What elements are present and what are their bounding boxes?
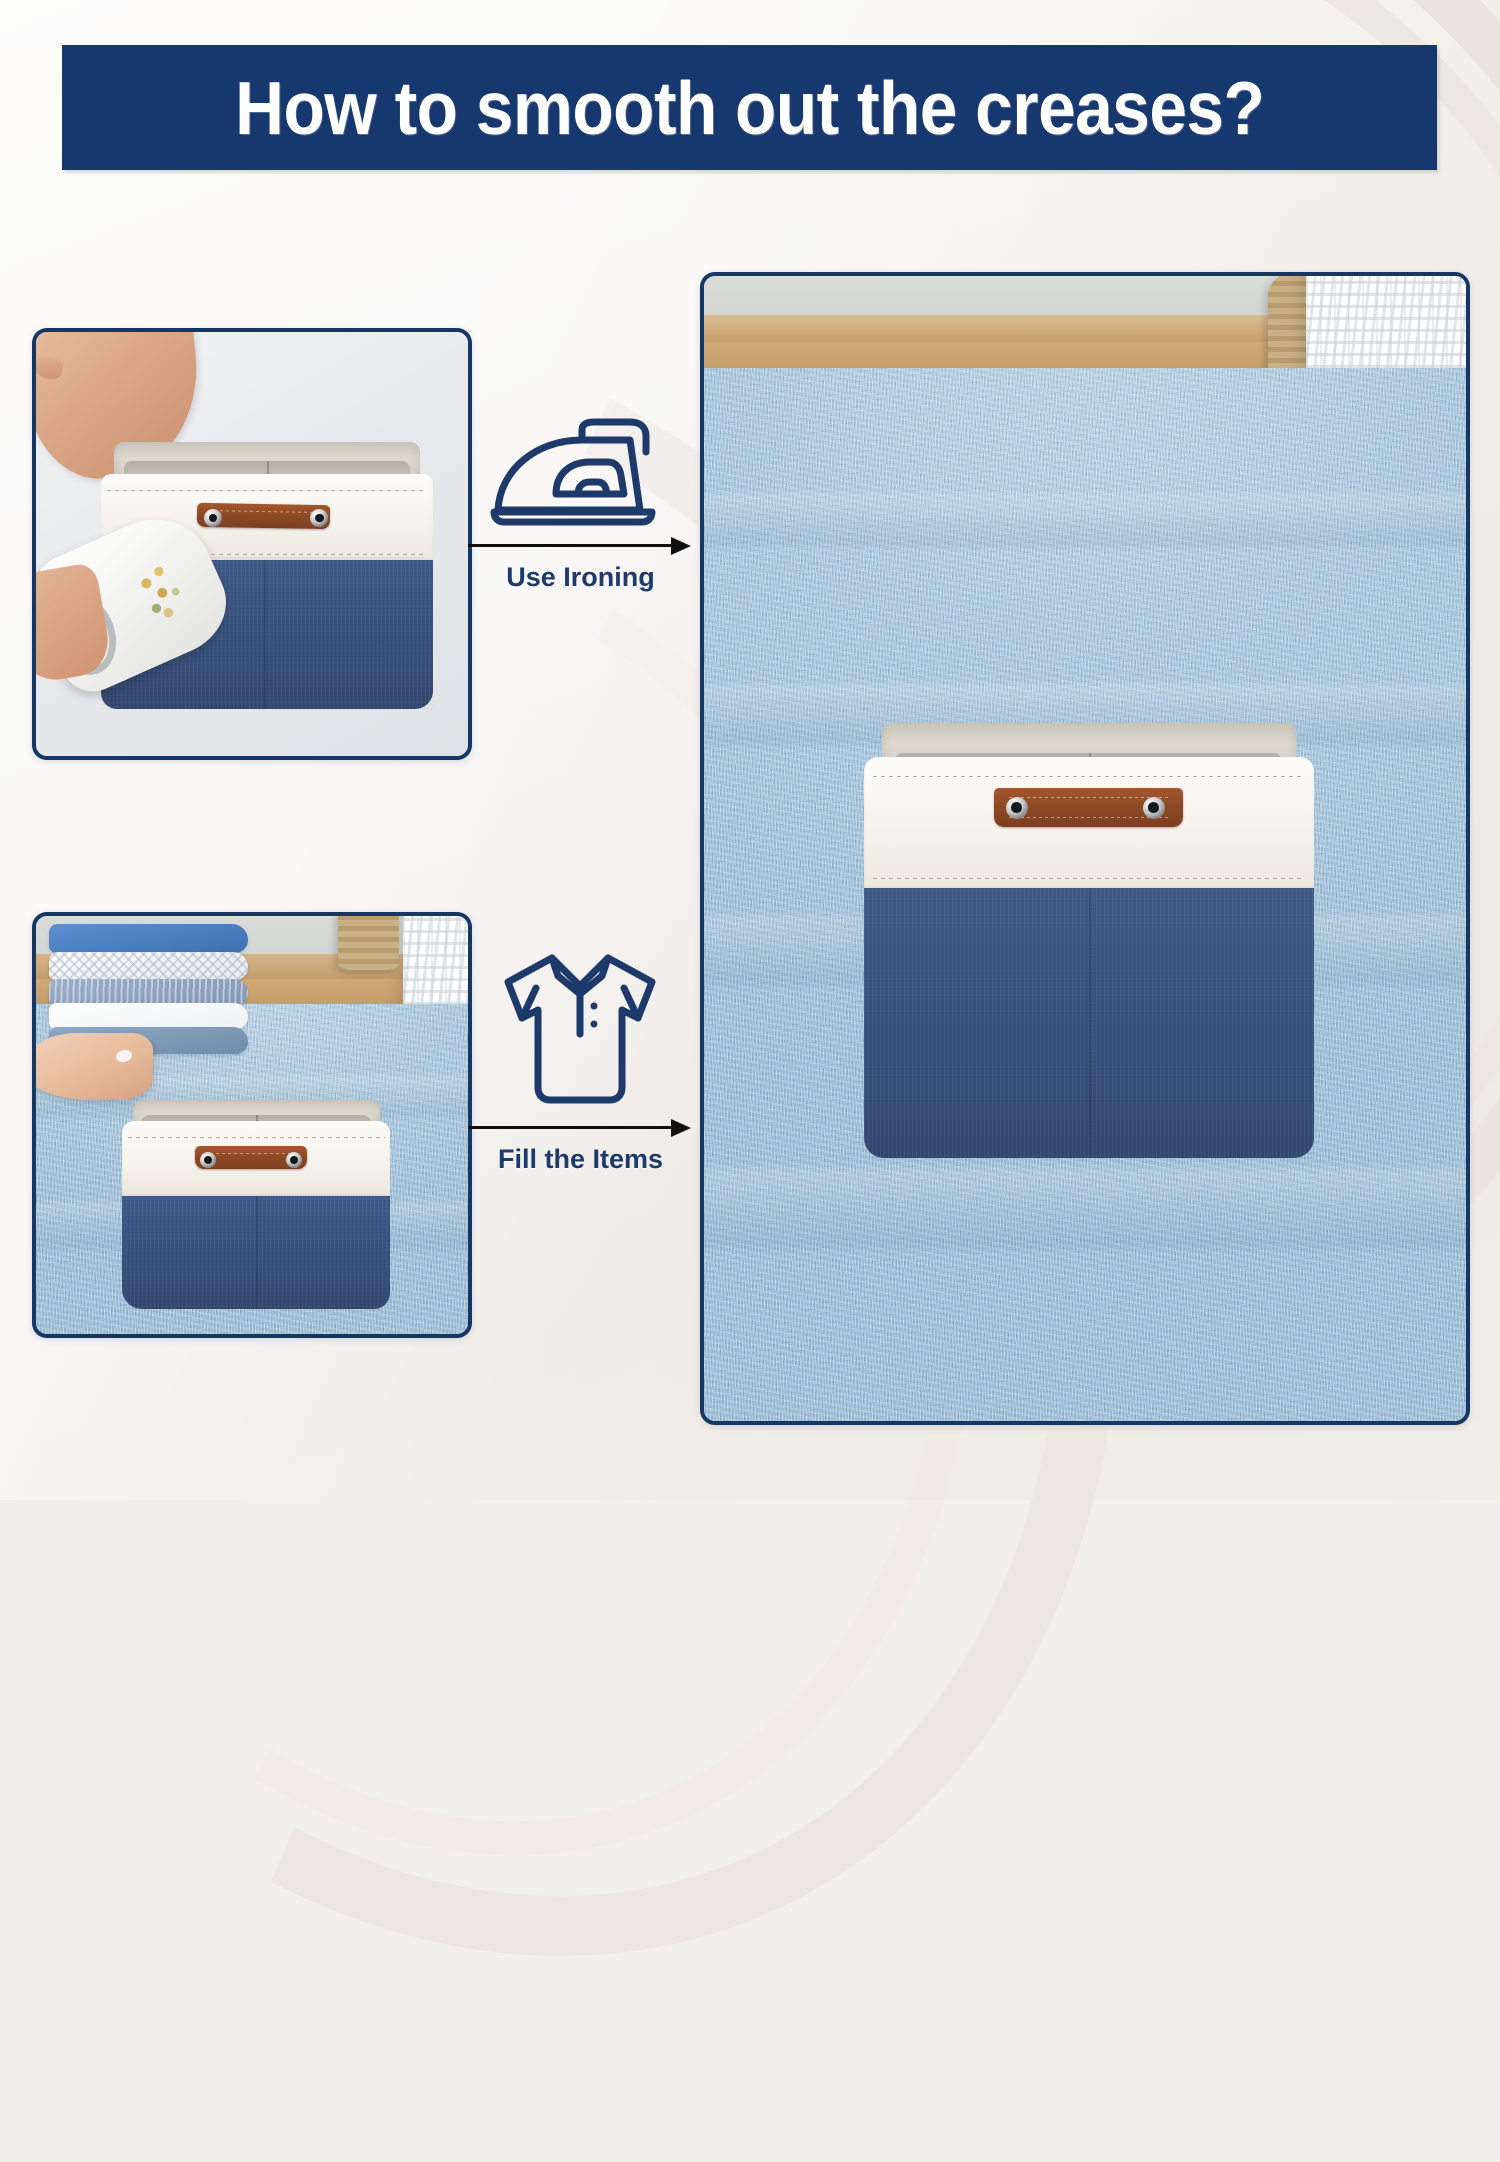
step-ironing: Use Ironing <box>468 418 693 608</box>
clothes-item-1-texture <box>49 952 248 981</box>
rug-band-4 <box>704 1168 1466 1248</box>
clothes-item-1 <box>49 952 248 981</box>
thumb <box>36 355 65 382</box>
basket-stitch-line <box>128 1137 385 1138</box>
photo-ironing-scene <box>36 332 468 756</box>
step-arrow-head <box>671 537 691 555</box>
basket-navy-body <box>864 888 1314 1158</box>
step-photo-fill <box>32 912 472 1338</box>
clothes-item-2-texture <box>49 979 248 1005</box>
rug-band-1 <box>704 494 1466 546</box>
basket-navy-body <box>122 1196 390 1309</box>
step-fill: Fill the Items <box>468 948 693 1178</box>
main-product-photo <box>700 272 1470 1425</box>
iron-floral-decal <box>106 536 213 644</box>
photo-wicker-basket <box>338 916 398 970</box>
step-arrow-head <box>671 1119 691 1137</box>
basket-seam <box>1089 888 1091 1158</box>
fingernail <box>115 1049 133 1064</box>
handle-stitching <box>204 1153 299 1154</box>
handle-stitching-bottom <box>1009 817 1168 818</box>
step-photo-ironing <box>32 328 472 760</box>
basket-stitch-line-lower <box>873 878 1305 879</box>
title-banner: How to smooth out the creases? <box>62 45 1437 170</box>
handle-stitching <box>208 509 320 512</box>
storage-basket <box>122 1100 390 1309</box>
clothes-item-3 <box>49 1003 248 1029</box>
product-storage-basket <box>864 723 1314 1158</box>
step-label-ironing: Use Ironing <box>468 562 693 593</box>
iron-icon <box>490 418 670 528</box>
handle-grommet-right <box>286 1152 302 1168</box>
main-photo-scene <box>704 276 1466 1421</box>
step-label-fill: Fill the Items <box>468 1144 693 1175</box>
photo-fill-scene <box>36 916 468 1334</box>
clothes-item-0 <box>49 924 248 953</box>
handle-grommet-left <box>1006 797 1028 819</box>
clothes-item-2 <box>49 979 248 1005</box>
step-arrow-line <box>468 544 673 547</box>
basket-seam <box>256 1196 258 1309</box>
hand-holding-clothes <box>36 1033 153 1100</box>
basket-seam <box>264 560 266 710</box>
basket-stitch-line <box>107 490 426 491</box>
handle-grommet-left <box>204 509 222 527</box>
handle-stitching-top <box>1009 797 1168 798</box>
basket-stitch-line <box>873 776 1305 777</box>
polo-shirt-icon <box>490 948 670 1108</box>
page-title: How to smooth out the creases? <box>235 65 1264 151</box>
step-arrow-line <box>468 1126 673 1129</box>
handle-grommet-right <box>1143 797 1165 819</box>
